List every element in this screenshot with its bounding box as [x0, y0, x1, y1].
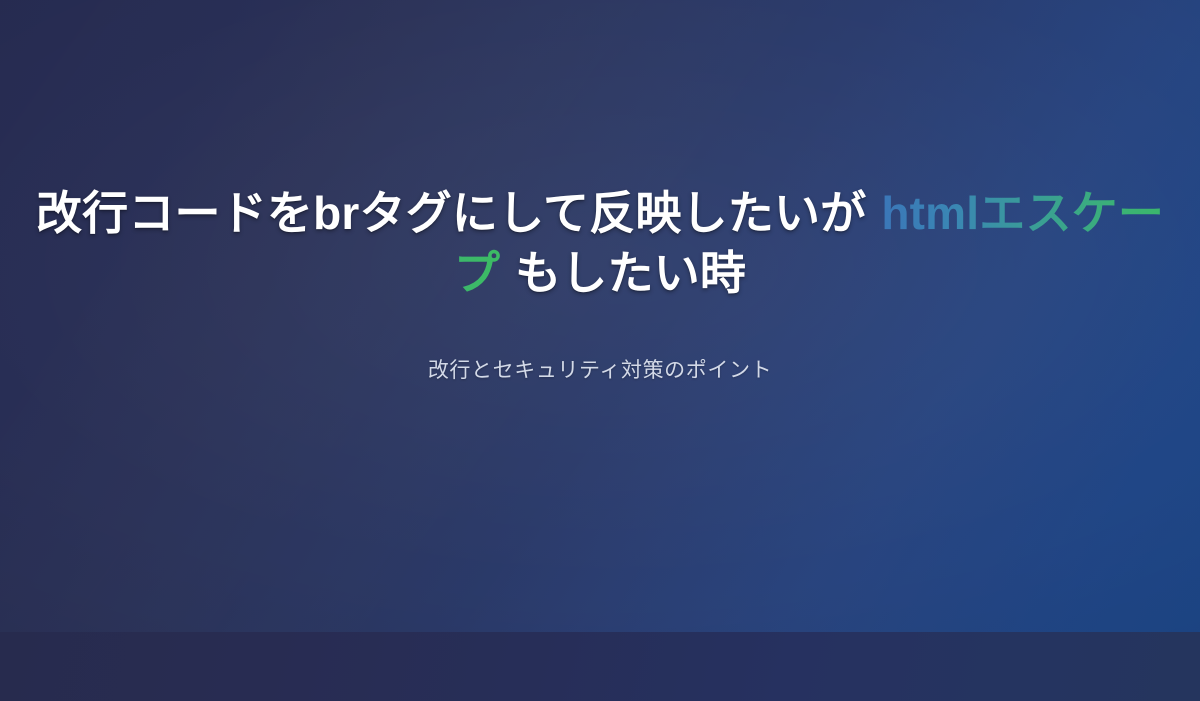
slide-title-trail: もしたい時 [502, 247, 746, 299]
slide-subtitle: 改行とセキュリティ対策のポイント [428, 304, 772, 384]
slide-content: 改行コードをbrタグにして反映したいが htmlエスケープ もしたい時 改行とセ… [0, 0, 1200, 632]
slide-title: 改行コードをbrタグにして反映したいが htmlエスケープ もしたい時 [35, 184, 1165, 304]
slide-footer-band [0, 632, 1200, 701]
slide-title-lead: 改行コードをbrタグにして反映したいが [36, 187, 879, 239]
title-slide: 改行コードをbrタグにして反映したいが htmlエスケープ もしたい時 改行とセ… [0, 0, 1200, 701]
